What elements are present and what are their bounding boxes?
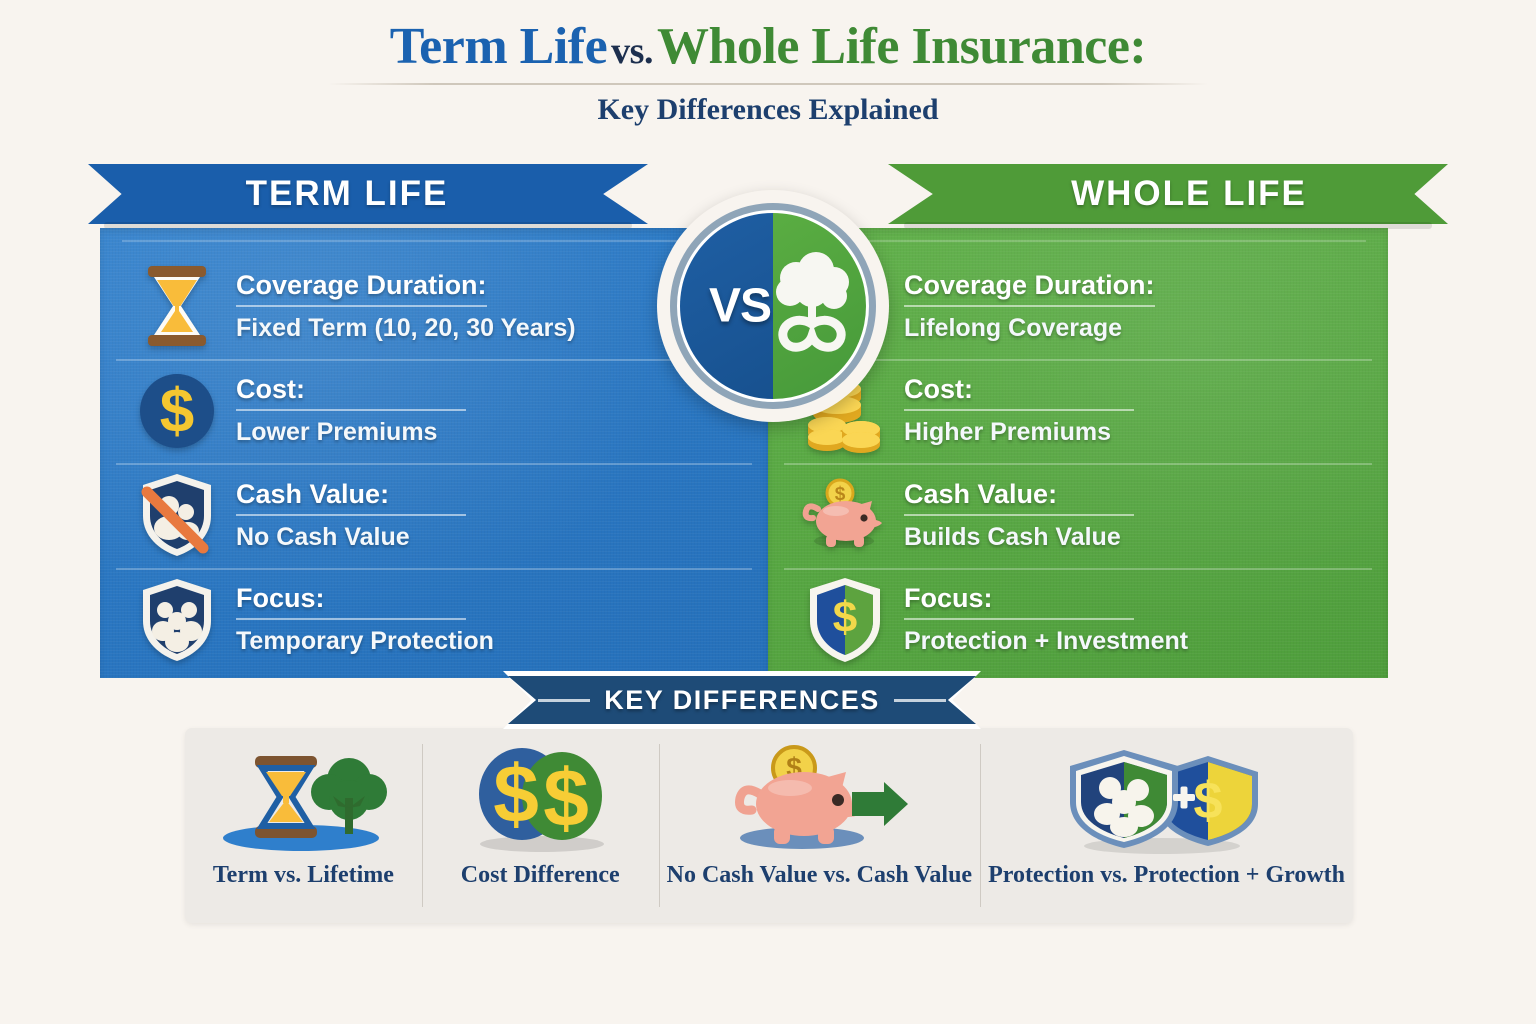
whole-row-text: Cash Value: Builds Cash Value: [904, 479, 1362, 552]
whole-row-text: Focus: Protection + Investment: [904, 583, 1362, 656]
page-subtitle: Key Differences Explained: [0, 93, 1536, 127]
key-difference-item-term-vs-lifetime: Term vs. Lifetime: [185, 728, 422, 923]
term-label-cash-value: Cash Value:: [236, 479, 466, 516]
term-row-text: Cash Value: No Cash Value: [236, 479, 742, 552]
whole-label-cash-value: Cash Value:: [904, 479, 1134, 516]
twin-shields-icon: $: [1062, 742, 1272, 854]
key-differences-ribbon: KEY DIFFERENCES: [508, 676, 976, 724]
svg-text:$: $: [833, 593, 857, 642]
whole-value-coverage-duration: Lifelong Coverage: [904, 314, 1362, 343]
whole-life-banner: WHOLE LIFE: [888, 164, 1448, 224]
svg-text:$: $: [493, 749, 539, 840]
key-difference-label: No Cash Value vs. Cash Value: [667, 862, 972, 890]
shield-dollar-icon: $: [802, 577, 888, 663]
key-difference-item-no-cash-vs-cash: $ No Cash Value vs. Cash Value: [659, 728, 980, 923]
whole-label-coverage-duration: Coverage Duration:: [904, 270, 1155, 307]
tree-infinity-icon: [766, 252, 858, 360]
term-label-cost: Cost:: [236, 374, 466, 411]
whole-row-focus: $ Focus: Protection + Investment: [768, 568, 1388, 673]
key-difference-label: Protection vs. Protection + Growth: [988, 862, 1345, 890]
double-dollar-icon: $ $: [450, 742, 630, 854]
key-difference-label: Term vs. Lifetime: [213, 862, 394, 890]
whole-row-text: Coverage Duration: Lifelong Coverage: [904, 270, 1362, 343]
term-row-text: Focus: Temporary Protection: [236, 583, 742, 656]
panel-top-line: [790, 240, 1366, 242]
ribbon-dash-left: [538, 699, 590, 702]
whole-life-banner-label: WHOLE LIFE: [1071, 174, 1307, 214]
whole-row-cash-value: $ Cash Value: Builds Cash Value: [768, 463, 1388, 568]
whole-label-cost: Cost:: [904, 374, 1134, 411]
key-differences-strip: Term vs. Lifetime $ $ Cost Difference $: [185, 728, 1353, 923]
title-divider: [328, 83, 1208, 85]
shield-people-icon: [134, 577, 220, 663]
page-title: Term Lifevs.Whole Life Insurance:: [0, 18, 1536, 75]
title-whole-life: Whole Life Insurance:: [657, 18, 1146, 75]
svg-text:$: $: [1193, 772, 1222, 830]
title-vs: vs.: [607, 30, 657, 72]
svg-text:$: $: [160, 377, 194, 446]
page-header: Term Lifevs.Whole Life Insurance: Key Di…: [0, 18, 1536, 127]
whole-row-text: Cost: Higher Premiums: [904, 374, 1362, 447]
term-row-cash-value: Cash Value: No Cash Value: [100, 463, 768, 568]
whole-value-cost: Higher Premiums: [904, 418, 1362, 447]
whole-label-focus: Focus:: [904, 583, 1134, 620]
term-row-cost: $ Cost: Lower Premiums: [100, 359, 768, 464]
key-difference-item-cost-difference: $ $ Cost Difference: [422, 728, 659, 923]
term-label-coverage-duration: Coverage Duration:: [236, 270, 487, 307]
panel-top-line: [122, 240, 746, 242]
term-label-focus: Focus:: [236, 583, 466, 620]
term-value-cost: Lower Premiums: [236, 418, 742, 447]
term-value-focus: Temporary Protection: [236, 627, 742, 656]
piggy-bank-pink-icon: $: [802, 472, 888, 558]
whole-value-focus: Protection + Investment: [904, 627, 1362, 656]
vs-badge-inner: VS: [680, 213, 866, 399]
piggy-arrow-icon: $: [724, 742, 914, 854]
svg-text:$: $: [543, 753, 589, 844]
dollar-coin-icon: $: [134, 368, 220, 454]
term-life-banner-label: TERM LIFE: [246, 174, 449, 214]
whole-value-cash-value: Builds Cash Value: [904, 523, 1362, 552]
key-differences-label: KEY DIFFERENCES: [604, 685, 880, 716]
hourglass-icon: [134, 263, 220, 349]
title-term-life: Term Life: [390, 18, 607, 75]
term-value-cash-value: No Cash Value: [236, 523, 742, 552]
term-row-focus: Focus: Temporary Protection: [100, 568, 768, 673]
term-life-banner: TERM LIFE: [88, 164, 648, 224]
key-difference-label: Cost Difference: [461, 862, 620, 890]
ribbon-dash-right: [894, 699, 946, 702]
vs-badge: VS: [657, 190, 889, 422]
hourglass-tree-icon: [213, 742, 393, 854]
key-difference-item-protection-vs-growth: $ Protection vs. Protection + Growth: [980, 728, 1353, 923]
vs-badge-ring: VS: [670, 203, 876, 409]
shield-no-cash-icon: [134, 472, 220, 558]
term-row-text: Cost: Lower Premiums: [236, 374, 742, 447]
